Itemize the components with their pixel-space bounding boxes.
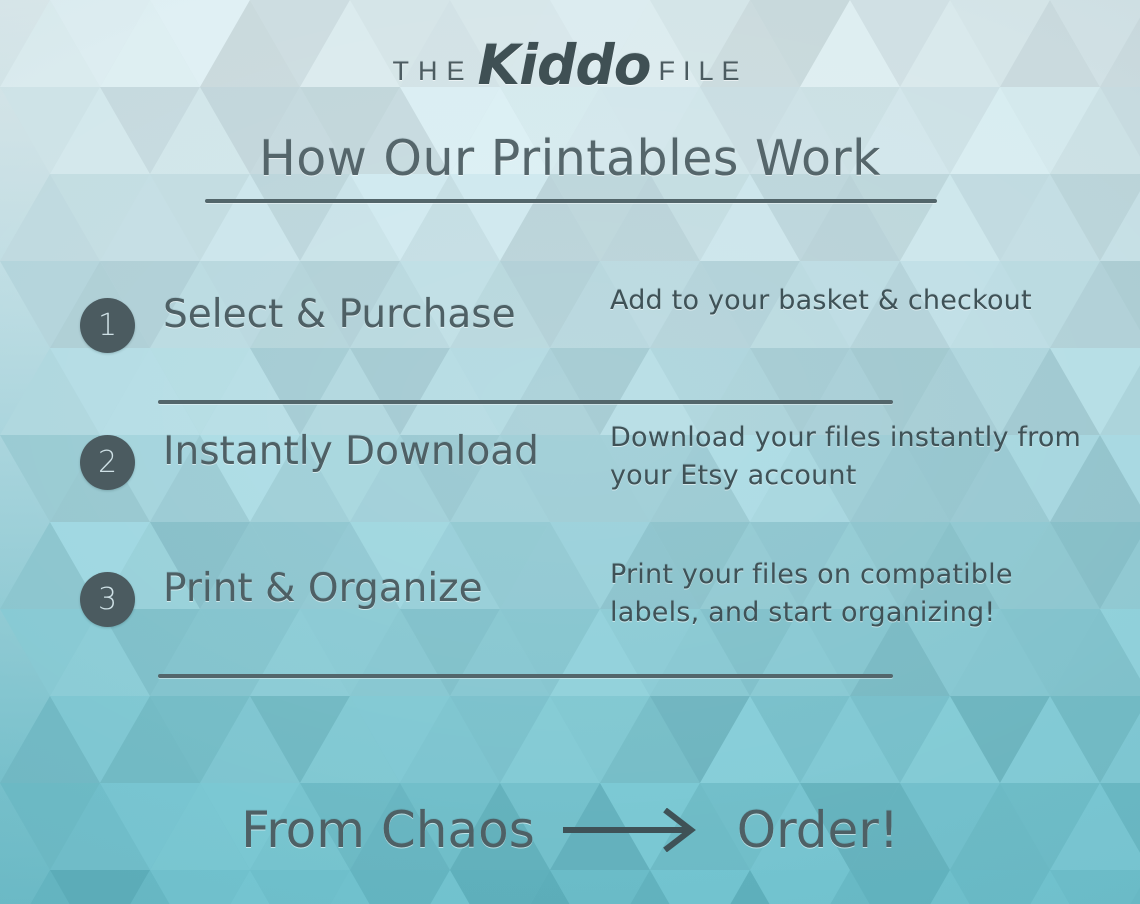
step-title-2: Instantly Download: [163, 429, 539, 474]
step-divider-1: [158, 400, 893, 404]
step-item-1: 1 Select & Purchase Add to your basket &…: [0, 280, 1140, 417]
logo-prefix: THE: [392, 56, 473, 86]
logo-brand-name: Kiddo: [473, 33, 654, 97]
step-number-badge-1: 1: [80, 298, 135, 353]
step-description-3: Print your files on compatible labels, a…: [610, 556, 1085, 633]
step-description-1: Add to your basket & checkout: [610, 282, 1085, 320]
footer-text-left: From Chaos: [241, 805, 535, 855]
footer-text-right: Order!: [737, 805, 899, 855]
title-underline-divider: [205, 199, 937, 203]
step-number-badge-2: 2: [80, 435, 135, 490]
step-title-3: Print & Organize: [163, 566, 483, 611]
brand-logo: THEKiddoFILE: [0, 38, 1140, 93]
logo-suffix: FILE: [658, 56, 747, 86]
steps-list: 1 Select & Purchase Add to your basket &…: [0, 280, 1140, 691]
step-description-2: Download your files instantly from your …: [610, 419, 1085, 496]
footer-tagline: From Chaos Order!: [0, 805, 1140, 855]
arrow-right-icon: [561, 808, 711, 852]
page-title: How Our Printables Work: [0, 133, 1140, 184]
printables-infographic-poster: THEKiddoFILE How Our Printables Work 1 S…: [0, 0, 1140, 904]
step-item-2: 2 Instantly Download Download your files…: [0, 417, 1140, 554]
step-item-3: 3 Print & Organize Print your files on c…: [0, 554, 1140, 691]
step-title-1: Select & Purchase: [163, 292, 516, 337]
step-number-badge-3: 3: [80, 572, 135, 627]
